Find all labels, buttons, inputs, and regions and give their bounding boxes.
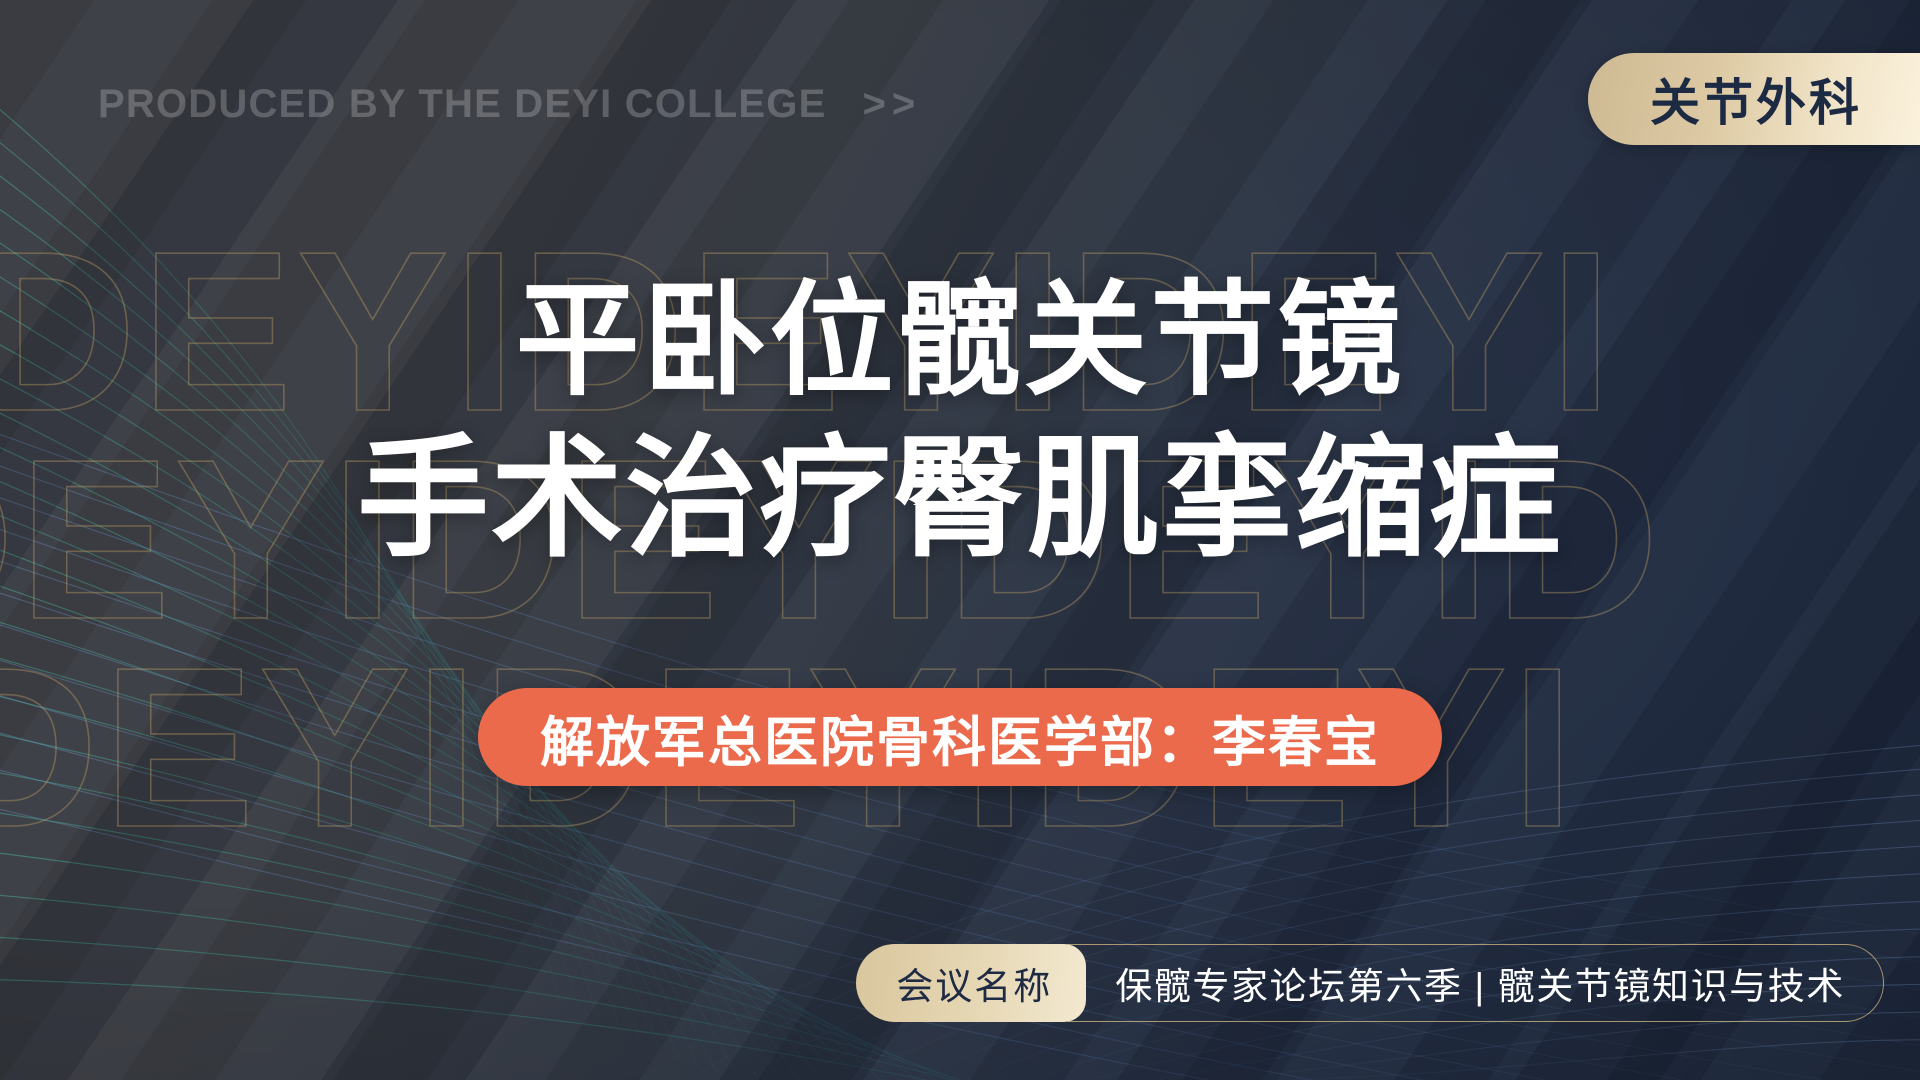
chevron-double-right-icon: >> [863,82,922,127]
producer-kicker: PRODUCED BY THE DEYI COLLEGE >> [98,82,921,127]
conference-bar: 会议名称 保髋专家论坛第六季 | 髋关节镜知识与技术 [856,944,1884,1022]
conference-label-text: 会议名称 [896,956,1052,1010]
conference-value-text: 保髋专家论坛第六季 | 髋关节镜知识与技术 [1115,956,1845,1010]
producer-kicker-text: PRODUCED BY THE DEYI COLLEGE [98,82,827,127]
conference-label-chip: 会议名称 [856,944,1086,1022]
slide-canvas: DEYIDEYIDEYI DEYIDEYIDEYID DEYIDEYIDEYI … [0,0,1920,1080]
department-badge-label: 关节外科 [1650,63,1862,135]
speaker-text: 解放军总医院骨科医学部：李春宝 [540,698,1380,777]
background-vignette [0,0,1920,1080]
conference-value-chip: 保髋专家论坛第六季 | 髋关节镜知识与技术 [1068,944,1884,1022]
speaker-pill: 解放军总医院骨科医学部：李春宝 [478,688,1442,786]
department-badge: 关节外科 [1588,53,1920,145]
